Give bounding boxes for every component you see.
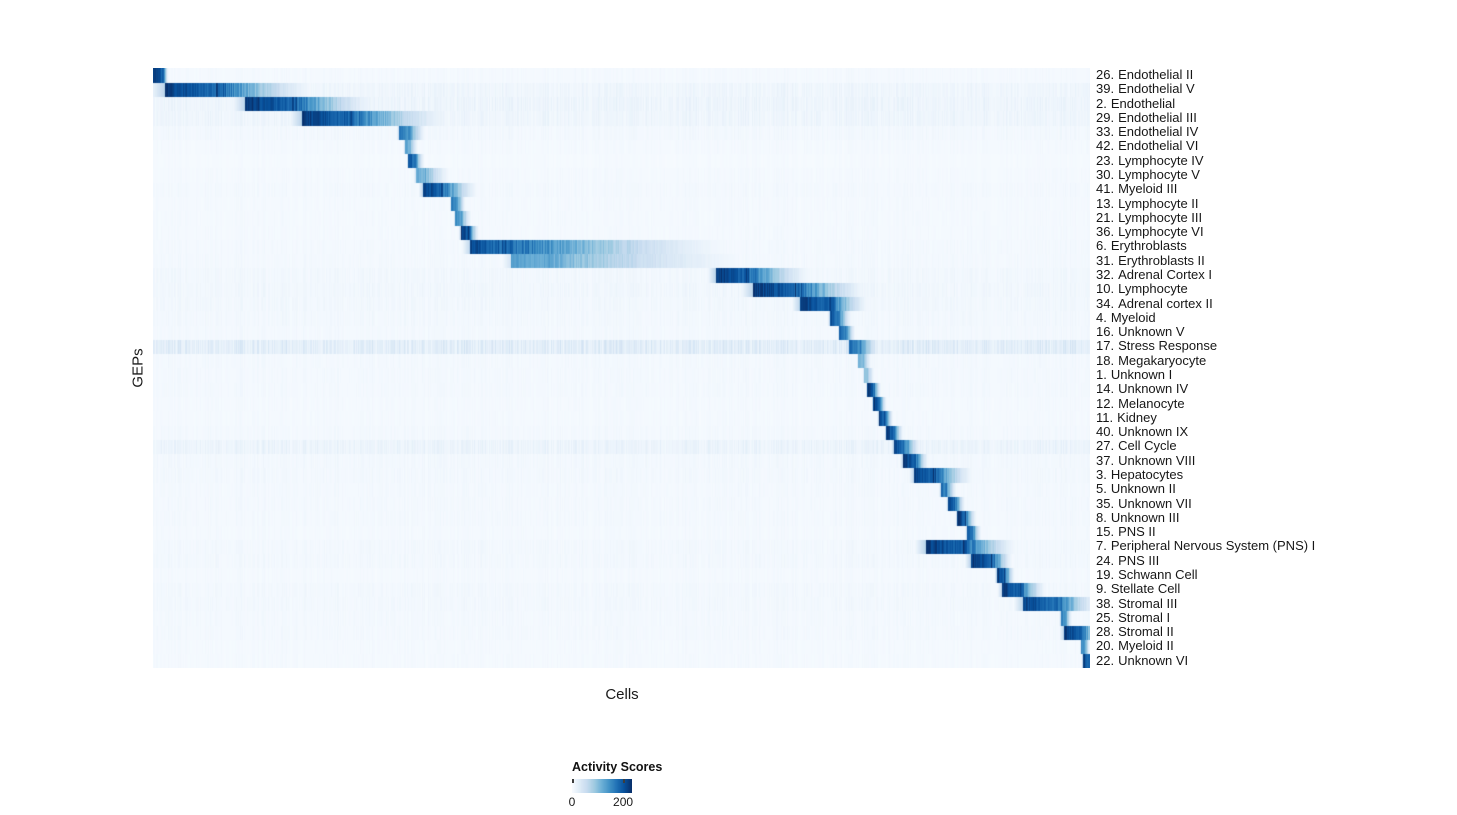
gep-row-name: Lymphocyte IV	[1118, 154, 1204, 168]
gep-row-label: 31.Erythroblasts II	[1096, 254, 1205, 268]
gep-row-name: Endothelial VI	[1118, 139, 1198, 153]
gep-row-name: Unknown VIII	[1118, 454, 1195, 468]
gep-row-label: 36.Lymphocyte VI	[1096, 225, 1204, 239]
gep-row-name: Lymphocyte V	[1118, 168, 1200, 182]
gep-row-name: Adrenal Cortex I	[1118, 268, 1212, 282]
gep-row-name: Unknown IV	[1118, 382, 1188, 396]
gep-row-label: 34.Adrenal cortex II	[1096, 297, 1213, 311]
gep-row-number: 4.	[1096, 311, 1107, 325]
gep-row-label: 20.Myeloid II	[1096, 639, 1174, 653]
gep-row-number: 29.	[1096, 111, 1114, 125]
colorbar-tick-label: 0	[569, 795, 576, 809]
gep-row-label: 7.Peripheral Nervous System (PNS) I	[1096, 539, 1315, 553]
gep-row-label: 19.Schwann Cell	[1096, 568, 1198, 582]
gep-row-number: 10.	[1096, 282, 1114, 296]
gep-row-label: 35.Unknown VII	[1096, 497, 1192, 511]
gep-row-number: 9.	[1096, 582, 1107, 596]
gep-row-number: 15.	[1096, 525, 1114, 539]
gep-row-label: 14.Unknown IV	[1096, 382, 1188, 396]
gep-row-name: Unknown III	[1111, 511, 1180, 525]
gep-row-label: 4.Myeloid	[1096, 311, 1156, 325]
gep-row-name: Erythroblasts II	[1118, 254, 1205, 268]
gep-row-label: 22.Unknown VI	[1096, 654, 1188, 668]
gep-row-number: 39.	[1096, 82, 1114, 96]
gep-row-number: 35.	[1096, 497, 1114, 511]
gep-row-label: 38.Stromal III	[1096, 597, 1177, 611]
x-axis-label: Cells	[605, 686, 638, 703]
gep-row-label-list: 26.Endothelial II39.Endothelial V2.Endot…	[1096, 68, 1446, 668]
gep-row-number: 41.	[1096, 182, 1114, 196]
gep-row-name: Lymphocyte III	[1118, 211, 1202, 225]
gep-row-name: Kidney	[1117, 411, 1157, 425]
gep-row-number: 28.	[1096, 625, 1114, 639]
gep-row-name: Stromal III	[1118, 597, 1177, 611]
gep-row-number: 13.	[1096, 197, 1114, 211]
gep-row-label: 13.Lymphocyte II	[1096, 197, 1199, 211]
gep-row-label: 39.Endothelial V	[1096, 82, 1195, 96]
gep-row-label: 26.Endothelial II	[1096, 68, 1193, 82]
gep-row-name: Unknown IX	[1118, 425, 1188, 439]
colorbar-tick	[623, 779, 625, 783]
gep-row-label: 18.Megakaryocyte	[1096, 354, 1206, 368]
gep-row-name: Unknown VII	[1118, 497, 1192, 511]
gep-row-name: Myeloid II	[1118, 639, 1174, 653]
gep-row-number: 17.	[1096, 339, 1114, 353]
gep-row-name: Lymphocyte II	[1118, 197, 1198, 211]
gep-row-label: 41.Myeloid III	[1096, 182, 1177, 196]
gep-row-number: 32.	[1096, 268, 1114, 282]
gep-row-number: 8.	[1096, 511, 1107, 525]
gep-row-name: Stellate Cell	[1111, 582, 1180, 596]
heatmap-canvas	[153, 68, 1090, 668]
gep-row-name: Erythroblasts	[1111, 239, 1187, 253]
gep-row-number: 27.	[1096, 439, 1114, 453]
gep-row-label: 28.Stromal II	[1096, 625, 1174, 639]
gep-row-name: Lymphocyte VI	[1118, 225, 1204, 239]
colorbar-tick-label: 200	[613, 795, 633, 809]
gep-row-name: Unknown II	[1111, 482, 1176, 496]
gep-row-name: Stress Response	[1118, 339, 1217, 353]
heatmap-figure: GEPs Cells 26.Endothelial II39.Endotheli…	[0, 0, 1457, 815]
gep-row-name: Stromal II	[1118, 625, 1174, 639]
gep-row-label: 24.PNS III	[1096, 554, 1159, 568]
gep-row-label: 2.Endothelial	[1096, 97, 1175, 111]
gep-row-name: Endothelial V	[1118, 82, 1195, 96]
gep-row-name: PNS III	[1118, 554, 1159, 568]
gep-row-label: 40.Unknown IX	[1096, 425, 1188, 439]
gep-row-label: 32.Adrenal Cortex I	[1096, 268, 1212, 282]
gep-row-label: 27.Cell Cycle	[1096, 439, 1177, 453]
gep-row-number: 2.	[1096, 97, 1107, 111]
gep-row-number: 33.	[1096, 125, 1114, 139]
gep-row-number: 1.	[1096, 368, 1107, 382]
gep-row-name: Schwann Cell	[1118, 568, 1198, 582]
gep-row-number: 31.	[1096, 254, 1114, 268]
gep-row-number: 5.	[1096, 482, 1107, 496]
gep-row-number: 24.	[1096, 554, 1114, 568]
gep-row-label: 33.Endothelial IV	[1096, 125, 1198, 139]
gep-row-name: Endothelial IV	[1118, 125, 1198, 139]
gep-row-name: Unknown V	[1118, 325, 1184, 339]
gep-row-label: 1.Unknown I	[1096, 368, 1172, 382]
gep-row-label: 29.Endothelial III	[1096, 111, 1197, 125]
gep-row-label: 5.Unknown II	[1096, 482, 1176, 496]
gep-row-label: 10.Lymphocyte	[1096, 282, 1188, 296]
gep-row-label: 12.Melanocyte	[1096, 397, 1185, 411]
gep-row-number: 19.	[1096, 568, 1114, 582]
gep-row-name: Endothelial	[1111, 97, 1175, 111]
gep-row-number: 42.	[1096, 139, 1114, 153]
gep-row-number: 22.	[1096, 654, 1114, 668]
gep-row-name: Peripheral Nervous System (PNS) I	[1111, 539, 1315, 553]
gep-row-name: Adrenal cortex II	[1118, 297, 1213, 311]
gep-row-label: 3.Hepatocytes	[1096, 468, 1183, 482]
gep-row-name: Lymphocyte	[1118, 282, 1188, 296]
gep-row-label: 42.Endothelial VI	[1096, 139, 1198, 153]
gep-row-label: 6.Erythroblasts	[1096, 239, 1187, 253]
gep-row-number: 37.	[1096, 454, 1114, 468]
gep-row-label: 16.Unknown V	[1096, 325, 1185, 339]
gep-row-number: 3.	[1096, 468, 1107, 482]
gep-row-number: 12.	[1096, 397, 1114, 411]
gep-row-number: 18.	[1096, 354, 1114, 368]
gep-row-name: Endothelial III	[1118, 111, 1197, 125]
gep-row-label: 23.Lymphocyte IV	[1096, 154, 1204, 168]
y-axis-label: GEPs	[130, 348, 147, 387]
gep-row-number: 21.	[1096, 211, 1114, 225]
gep-row-label: 30.Lymphocyte V	[1096, 168, 1200, 182]
gep-row-number: 26.	[1096, 68, 1114, 82]
gep-row-number: 40.	[1096, 425, 1114, 439]
gep-row-number: 25.	[1096, 611, 1114, 625]
gep-row-name: Unknown VI	[1118, 654, 1188, 668]
gep-row-number: 36.	[1096, 225, 1114, 239]
gep-row-label: 8.Unknown III	[1096, 511, 1180, 525]
gep-row-name: PNS II	[1118, 525, 1156, 539]
gep-row-label: 25.Stromal I	[1096, 611, 1170, 625]
gep-row-name: Melanocyte	[1118, 397, 1184, 411]
gep-row-number: 7.	[1096, 539, 1107, 553]
gep-row-label: 15.PNS II	[1096, 525, 1156, 539]
gep-row-name: Megakaryocyte	[1118, 354, 1206, 368]
gep-row-label: 17.Stress Response	[1096, 339, 1217, 353]
colorbar-legend: Activity Scores 0200	[572, 760, 772, 810]
gep-row-name: Hepatocytes	[1111, 468, 1183, 482]
gep-row-number: 34.	[1096, 297, 1114, 311]
colorbar-title: Activity Scores	[572, 760, 662, 774]
gep-row-number: 20.	[1096, 639, 1114, 653]
gep-row-name: Myeloid	[1111, 311, 1156, 325]
gep-row-name: Unknown I	[1111, 368, 1172, 382]
gep-row-number: 16.	[1096, 325, 1114, 339]
gep-row-number: 11.	[1096, 411, 1113, 425]
gep-row-number: 23.	[1096, 154, 1114, 168]
colorbar-tick	[572, 779, 574, 783]
gep-row-label: 9.Stellate Cell	[1096, 582, 1180, 596]
gep-row-label: 11.Kidney	[1096, 411, 1157, 425]
gep-row-name: Stromal I	[1118, 611, 1170, 625]
gep-row-label: 21.Lymphocyte III	[1096, 211, 1202, 225]
gep-row-label: 37.Unknown VIII	[1096, 454, 1195, 468]
gep-row-name: Myeloid III	[1118, 182, 1177, 196]
gep-row-number: 14.	[1096, 382, 1114, 396]
gep-row-number: 30.	[1096, 168, 1114, 182]
gep-row-number: 6.	[1096, 239, 1107, 253]
gep-row-name: Endothelial II	[1118, 68, 1193, 82]
gep-row-number: 38.	[1096, 597, 1114, 611]
gep-row-name: Cell Cycle	[1118, 439, 1177, 453]
heatmap-plot-area	[153, 68, 1090, 668]
